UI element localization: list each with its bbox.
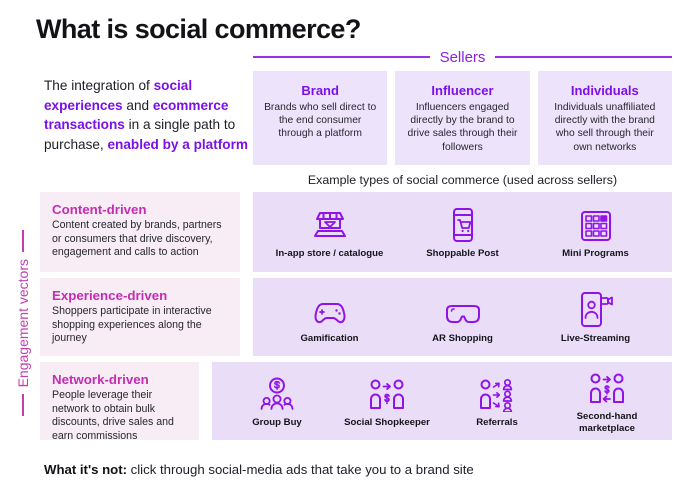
gamepad-icon [311, 290, 349, 328]
sellers-rule-right [495, 56, 672, 58]
intro-part-0: The integration of [44, 78, 154, 93]
example-cell[interactable]: Group Buy [222, 374, 332, 429]
page-title: What is social commerce? [36, 14, 361, 45]
intro-part-2: and [123, 98, 153, 113]
person-dollar-person-icon [368, 374, 406, 412]
cell-label: Referrals [476, 417, 518, 429]
cell-label: Second-hand marketplace [552, 411, 662, 434]
engagement-vectors-axis: Engagement vectors [8, 192, 38, 454]
row-title: Network-driven [52, 372, 187, 387]
seller-box-influencer: Influencer Influencers engaged directly … [395, 71, 529, 165]
seller-desc: Influencers engaged directly by the bran… [395, 101, 529, 154]
cell-label: Group Buy [252, 417, 302, 429]
ar-goggles-icon [443, 290, 483, 328]
seller-box-individuals: Individuals Individuals unaffiliated dir… [538, 71, 672, 165]
phone-camera-person-icon [578, 290, 614, 328]
example-cell[interactable]: AR Shopping [408, 290, 518, 345]
matrix-row-content-driven: Content-driven Content created by brands… [40, 192, 672, 272]
person-exchange-person-icon [588, 368, 626, 406]
row-desc: Content created by brands, partners or c… [52, 219, 228, 260]
sellers-rule-left [253, 56, 430, 58]
example-cell[interactable]: Second-hand marketplace [552, 368, 662, 434]
engagement-matrix: Content-driven Content created by brands… [40, 192, 672, 446]
row-icons-panel: Gamification AR Shopping [253, 278, 672, 356]
seller-name: Influencer [431, 83, 493, 98]
cell-label: Live-Streaming [561, 333, 630, 345]
row-desc: Shoppers participate in interactive shop… [52, 305, 228, 346]
example-types-caption: Example types of social commerce (used a… [253, 173, 672, 187]
app-grid-icon [579, 205, 613, 243]
axis-label: Engagement vectors [15, 259, 31, 387]
matrix-row-network-driven: Network-driven People leverage their net… [40, 362, 672, 440]
intro-paragraph: The integration of social experiences an… [44, 76, 249, 154]
seller-name: Individuals [571, 83, 639, 98]
example-cell[interactable]: Social Shopkeeper [332, 374, 442, 429]
footer-note-bold: What it's not: [44, 462, 127, 477]
sellers-boxes: Brand Brands who sell direct to the end … [253, 71, 672, 165]
matrix-row-experience-driven: Experience-driven Shoppers participate i… [40, 278, 672, 356]
seller-desc: Brands who sell direct to the end consum… [253, 101, 387, 141]
example-cell[interactable]: Gamification [275, 290, 385, 345]
sellers-label: Sellers [440, 49, 486, 66]
row-title: Content-driven [52, 202, 228, 217]
seller-box-brand: Brand Brands who sell direct to the end … [253, 71, 387, 165]
sellers-header: Sellers [253, 46, 672, 68]
row-description-panel: Experience-driven Shoppers participate i… [40, 278, 240, 356]
example-cell[interactable]: In-app store / catalogue [275, 205, 385, 260]
cell-label: Shoppable Post [426, 248, 499, 260]
people-dollar-coin-icon [257, 374, 297, 412]
cell-label: AR Shopping [432, 333, 493, 345]
cell-label: Social Shopkeeper [344, 417, 430, 429]
seller-name: Brand [301, 83, 339, 98]
row-icons-panel: Group Buy Social Shopkeeper [212, 362, 672, 440]
seller-desc: Individuals unaffiliated directly with t… [538, 101, 672, 154]
axis-dash-bottom [22, 394, 24, 416]
cell-label: Mini Programs [562, 248, 629, 260]
storefront-laptop-icon [312, 205, 348, 243]
row-description-panel: Content-driven Content created by brands… [40, 192, 240, 272]
intro-part-5: enabled by a platform [107, 137, 248, 152]
row-icons-panel: In-app store / catalogue Shoppable Post [253, 192, 672, 272]
person-arrows-people-icon [478, 374, 516, 412]
example-cell[interactable]: Referrals [442, 374, 552, 429]
cell-label: In-app store / catalogue [276, 248, 384, 260]
example-cell[interactable]: Mini Programs [541, 205, 651, 260]
footer-note: What it's not: click through social-medi… [44, 462, 474, 477]
example-cell[interactable]: Live-Streaming [541, 290, 651, 345]
example-cell[interactable]: Shoppable Post [408, 205, 518, 260]
footer-note-rest: click through social-media ads that take… [127, 462, 474, 477]
axis-dash-top [22, 230, 24, 252]
row-title: Experience-driven [52, 288, 228, 303]
cell-label: Gamification [300, 333, 358, 345]
row-desc: People leverage their network to obtain … [52, 389, 187, 443]
row-description-panel: Network-driven People leverage their net… [40, 362, 199, 440]
phone-cart-icon [448, 205, 478, 243]
